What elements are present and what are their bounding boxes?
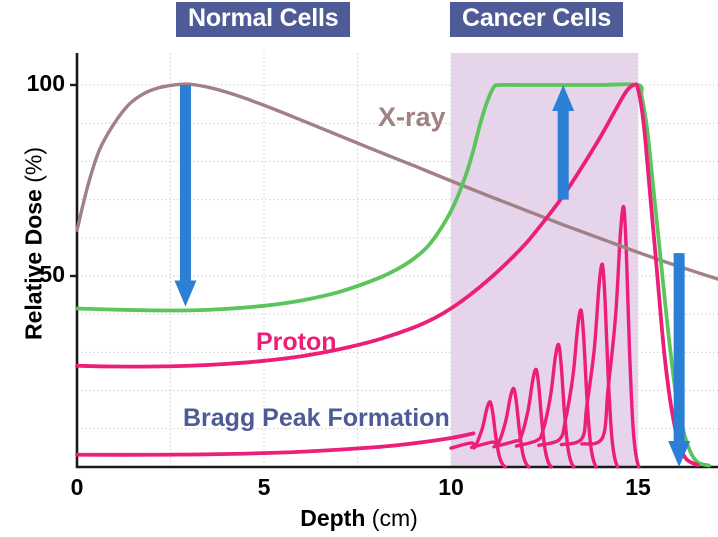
arrow-head <box>668 441 690 467</box>
curve-label-xray: X-ray <box>378 102 446 133</box>
y-tick-label-50: 50 <box>5 261 65 288</box>
x-axis-title-main: Depth <box>300 505 372 531</box>
curve-label-proton: Proton <box>256 328 337 357</box>
x-tick-label-5: 5 <box>244 474 284 501</box>
arrow-head <box>174 281 196 307</box>
dose-depth-plot <box>0 0 718 537</box>
x-tick-label-10: 10 <box>431 474 471 501</box>
y-axis-title-unit: (%) <box>21 147 47 183</box>
chart-root: Normal Cells Cancer Cells Relative Dose … <box>0 0 718 537</box>
x-tick-label-0: 0 <box>57 474 97 501</box>
y-axis-title: Relative Dose (%) <box>21 114 48 374</box>
arrow-normal-tissue-dose-reduction <box>174 85 196 307</box>
curve-label-bragg-peak-formation: Bragg Peak Formation <box>183 404 450 433</box>
y-tick-label-100: 100 <box>5 70 65 97</box>
x-tick-label-15: 15 <box>618 474 658 501</box>
x-axis-title-unit: (cm) <box>372 505 418 531</box>
x-axis-title: Depth (cm) <box>0 505 718 532</box>
curve-proton-entrance-baseline <box>77 433 473 454</box>
